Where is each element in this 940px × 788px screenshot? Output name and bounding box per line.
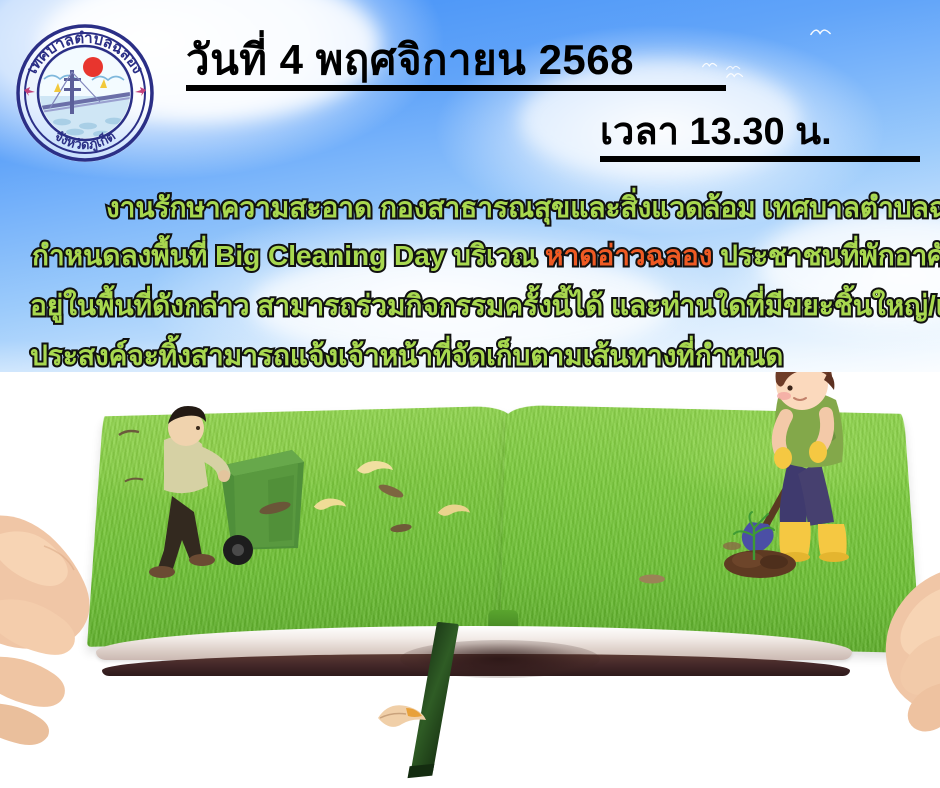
bird-icon [810,28,832,38]
bird-icon [726,65,741,75]
leaf-debris [258,500,292,516]
left-hand-holding-book [0,482,172,752]
body-line-1: งานรักษาความสะอาด กองสาธารณสุขและสิ่งแวด… [106,186,940,230]
body-line-3: อยู่ในพื้นที่ดังกล่าว สามารถร่วมกิจกรรมค… [30,284,940,328]
banana-peel-debris [355,456,395,476]
event-time-heading: เวลา 13.30 น. [600,112,920,162]
banana-peel-debris [312,494,348,512]
poster-canvas: เทศบาลตำบลฉลอง จังหวัดภูเก็ต วันที่ 4 พฤ… [0,0,940,788]
body-line-2: กำหนดลงพื้นที่ Big Cleaning Day บริเวณ ห… [32,234,940,278]
book-page-block [70,610,870,688]
open-book-illustration [0,372,940,788]
leaf-debris [376,484,406,500]
right-hand-holding-book [846,558,940,758]
body-line-2-post: ประชาชนที่พักอาศัย [712,240,940,271]
event-date-heading: วันที่ 4 พฤศจิกายน 2568 [186,36,726,91]
location-highlight: หาดอ่าวฉลอง [545,240,712,271]
fallen-leaf [372,698,432,732]
leaf-debris [638,572,666,586]
banana-peel-debris [436,500,472,520]
municipality-logo: เทศบาลตำบลฉลอง จังหวัดภูเก็ต [14,22,156,164]
body-line-2-pre: กำหนดลงพื้นที่ Big Cleaning Day บริเวณ [32,240,545,271]
sapling-and-soil [712,502,802,582]
leaf-debris [388,522,414,536]
twig-debris [118,428,140,438]
